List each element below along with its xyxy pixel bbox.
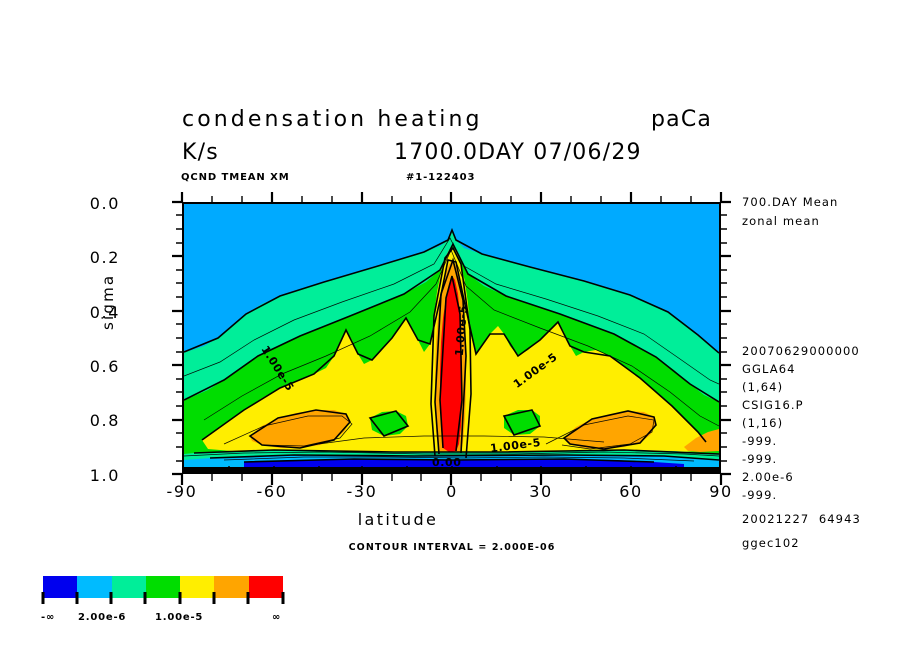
colorbar-label-high: 1.00e-5 xyxy=(155,612,203,623)
plot-title-right: paCa xyxy=(651,107,712,132)
y-tick-label: 1.0 xyxy=(58,466,120,485)
side-info-line: GGLA64 xyxy=(742,362,796,376)
y-tick-label: 0.0 xyxy=(58,194,120,213)
variable-label: QCND TMEAN XM xyxy=(181,172,290,183)
colorbar xyxy=(43,576,283,598)
colorbar-swatch xyxy=(112,576,146,598)
plot-date: 1700.0DAY 07/06/29 xyxy=(394,140,642,165)
x-tick-label: 0 xyxy=(417,482,487,501)
y-tick-label: 0.2 xyxy=(58,248,120,267)
y-tick-label: 0.8 xyxy=(58,411,120,430)
colorbar-swatch xyxy=(43,576,77,598)
side-info-line: 20070629000000 xyxy=(742,344,860,358)
contour-canvas xyxy=(184,204,719,472)
side-info-line: (1,64) xyxy=(742,380,783,394)
colorbar-swatch xyxy=(146,576,180,598)
side-info-line: -999. xyxy=(742,452,777,466)
x-axis-label: latitude xyxy=(358,510,439,529)
colorbar-swatch xyxy=(249,576,283,598)
colorbar-swatch xyxy=(214,576,248,598)
colorbar-end-low: -∞ xyxy=(41,612,55,623)
side-info-line: -999. xyxy=(742,434,777,448)
plot-title: condensation heating xyxy=(182,107,483,132)
side-info-line: zonal mean xyxy=(742,214,820,228)
contour-plot-figure: condensation heating paCa K/s 1700.0DAY … xyxy=(0,0,904,654)
side-info-line: ggec102 xyxy=(742,536,800,550)
x-tick-label: -30 xyxy=(327,482,397,501)
side-info-line: CSIG16.P xyxy=(742,398,804,412)
x-tick-label: 30 xyxy=(506,482,576,501)
x-tick-label: -60 xyxy=(237,482,307,501)
side-info-line: 20021227 64943 xyxy=(742,512,861,526)
colorbar-swatch xyxy=(77,576,111,598)
x-tick-label: 60 xyxy=(596,482,666,501)
plot-units: K/s xyxy=(182,140,219,165)
side-info-line: 2.00e-6 xyxy=(742,470,794,484)
colorbar-label-low: 2.00e-6 xyxy=(78,612,126,623)
side-info-line: -999. xyxy=(742,488,777,502)
run-id-label: #1-122403 xyxy=(406,172,475,183)
contour-interval-note: CONTOUR INTERVAL = 2.000E-06 xyxy=(349,542,556,553)
side-info-line: (1,16) xyxy=(742,416,783,430)
side-info-line: 700.DAY Mean xyxy=(742,195,838,209)
colorbar-end-high: ∞ xyxy=(272,612,281,623)
colorbar-swatch xyxy=(180,576,214,598)
contour-label: 0.00 xyxy=(432,456,462,469)
x-tick-label: -90 xyxy=(147,482,217,501)
y-tick-label: 0.6 xyxy=(58,357,120,376)
plot-area: 1.00e-5 1.00e-5 1.00e-5 1.00e-5 0.00 xyxy=(182,202,721,474)
y-tick-label: 0.4 xyxy=(58,303,120,322)
contour-fill-layer xyxy=(184,204,719,472)
